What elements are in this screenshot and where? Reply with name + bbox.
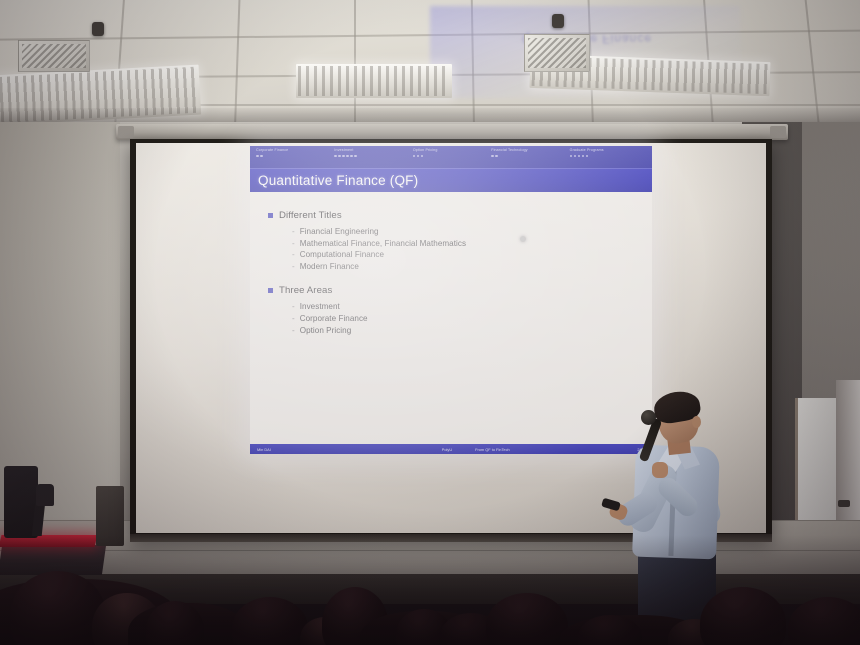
side-speaker	[96, 486, 124, 546]
slide-block-heading-label: Three Areas	[279, 285, 332, 296]
projected-slide: Corporate Finance Investment Option Pric…	[250, 146, 652, 454]
nav-section[interactable]: Graduate Programs	[570, 148, 648, 157]
audience-head	[700, 587, 786, 645]
slide-sub-list: - Financial Engineering - Mathematical F…	[292, 226, 638, 272]
audience-head	[232, 597, 308, 645]
pointer-dot-icon	[520, 236, 526, 242]
dash-bullet-icon: -	[292, 226, 295, 238]
dash-bullet-icon: -	[292, 313, 295, 325]
dash-bullet-icon: -	[292, 238, 295, 250]
slide-sub-item-label: Mathematical Finance, Financial Mathemat…	[300, 238, 466, 250]
footer-institution: PolyU	[419, 447, 475, 452]
slide-sub-item-label: Computational Finance	[300, 249, 384, 261]
dash-bullet-icon: -	[292, 249, 295, 261]
dash-bullet-icon: -	[292, 261, 295, 273]
audience-head	[486, 593, 568, 645]
slide-block: Different Titles - Financial Engineering…	[268, 210, 638, 272]
slide-block-heading: Three Areas	[268, 285, 638, 296]
square-bullet-icon	[268, 213, 273, 218]
slide-sub-item-label: Corporate Finance	[300, 313, 368, 325]
slide-sub-item-label: Investment	[300, 301, 340, 313]
footer-author: Min DAI	[250, 447, 419, 452]
lecture-hall-scene: Quantitative Finance Cor	[0, 0, 860, 645]
nav-section-dots	[570, 155, 648, 158]
square-bullet-icon	[268, 288, 273, 293]
hvac-diffuser	[18, 40, 90, 72]
ceiling: Quantitative Finance	[0, 0, 860, 130]
nav-section-label: Investment	[334, 148, 412, 153]
nav-section-label: Financial Technology	[491, 148, 569, 153]
nav-section-dots	[256, 155, 334, 158]
slide-title: Quantitative Finance (QF)	[258, 173, 418, 188]
slide-sub-item: - Computational Finance	[292, 249, 638, 261]
hvac-diffuser	[524, 34, 590, 72]
ceiling-sensor-icon	[552, 14, 564, 28]
audience	[0, 550, 860, 645]
slide-body: Different Titles - Financial Engineering…	[250, 192, 652, 428]
slide-sub-list: - Investment - Corporate Finance - Optio…	[292, 301, 638, 336]
slide-sub-item-label: Option Pricing	[300, 325, 352, 337]
nav-section[interactable]: Corporate Finance	[256, 148, 334, 157]
lectern-camera-icon	[36, 484, 54, 506]
slide-sub-item: - Mathematical Finance, Financial Mathem…	[292, 238, 638, 250]
nav-section-dots	[491, 155, 569, 158]
nav-section[interactable]: Financial Technology	[491, 148, 569, 157]
slide-sub-item-label: Financial Engineering	[300, 226, 379, 238]
nav-section-label: Option Pricing	[413, 148, 491, 153]
nav-section-label: Graduate Programs	[570, 148, 648, 153]
footer-talk-title: From QF to FinTech	[475, 447, 596, 452]
slide-sub-item: - Financial Engineering	[292, 226, 638, 238]
slide-block-heading-label: Different Titles	[279, 210, 342, 221]
nav-section-dots	[413, 155, 491, 158]
presentation-clicker-icon[interactable]	[601, 498, 621, 512]
ceiling-sensor-icon	[92, 22, 104, 36]
slide-sub-item: - Option Pricing	[292, 325, 638, 337]
ceiling-light-panel	[296, 64, 452, 98]
microphone-head-icon	[641, 410, 656, 425]
slide-block-heading: Different Titles	[268, 210, 638, 221]
nav-section-label: Corporate Finance	[256, 148, 334, 153]
door-handle[interactable]	[838, 500, 850, 507]
nav-section-dots	[334, 155, 412, 158]
slide-sub-item: - Corporate Finance	[292, 313, 638, 325]
slide-sub-item: - Modern Finance	[292, 261, 638, 273]
slide-title-bar: Quantitative Finance (QF)	[250, 168, 652, 192]
slide-sub-item: - Investment	[292, 301, 638, 313]
slide-navigation-bar: Corporate Finance Investment Option Pric…	[250, 146, 652, 168]
dash-bullet-icon: -	[292, 325, 295, 337]
slide-block: Three Areas - Investment - Corporate Fin…	[268, 285, 638, 336]
audience-head	[788, 597, 860, 645]
nav-section[interactable]: Option Pricing	[413, 148, 491, 157]
slide-sub-item-label: Modern Finance	[300, 261, 359, 273]
presenter-ear	[692, 416, 701, 428]
slide-footer-bar: Min DAI PolyU From QF to FinTech 2/30	[250, 444, 652, 454]
nav-section[interactable]: Investment	[334, 148, 412, 157]
dash-bullet-icon: -	[292, 301, 295, 313]
screen-roller-housing	[116, 124, 788, 140]
presenter-left-hand	[652, 462, 668, 478]
